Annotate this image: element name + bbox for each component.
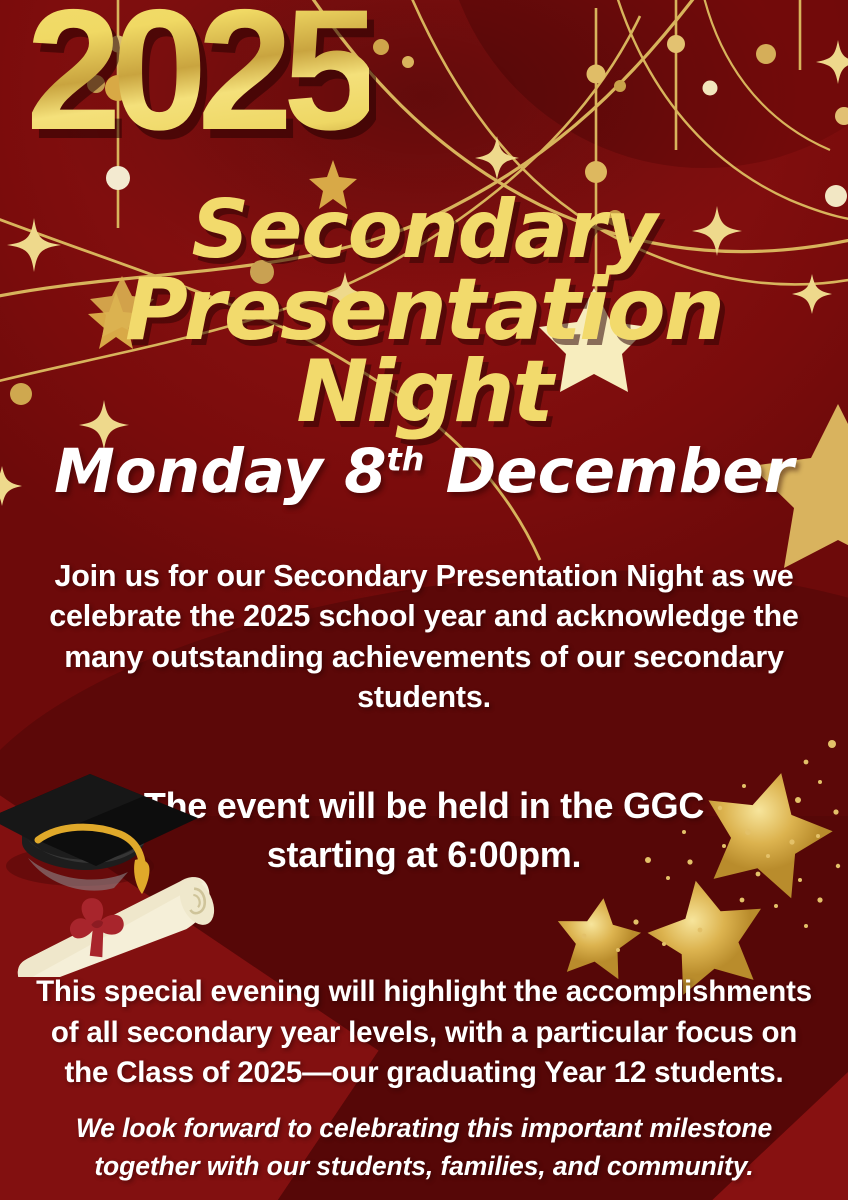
closing-paragraph: We look forward to celebrating this impo…: [0, 1110, 848, 1185]
title-line-1: Secondary: [0, 192, 848, 269]
event-date-month: December: [446, 436, 794, 507]
tassel-knot: [134, 859, 149, 894]
diploma-scroll: [5, 872, 227, 977]
event-date-ordinal: th: [387, 443, 425, 479]
year-heading: 2025: [26, 0, 369, 156]
title-line-2: Presentation Night: [0, 269, 848, 434]
graduation-art: [0, 762, 244, 977]
page-title: Secondary Presentation Night: [0, 192, 848, 434]
intro-paragraph: Join us for our Secondary Presentation N…: [0, 556, 848, 717]
presentation-night-poster: 2025 Secondary Presentation Night Monday…: [0, 0, 848, 1200]
focus-paragraph: This special evening will highlight the …: [0, 972, 848, 1094]
event-date: Monday 8th December: [0, 436, 848, 507]
event-date-day: Monday 8: [54, 436, 386, 507]
